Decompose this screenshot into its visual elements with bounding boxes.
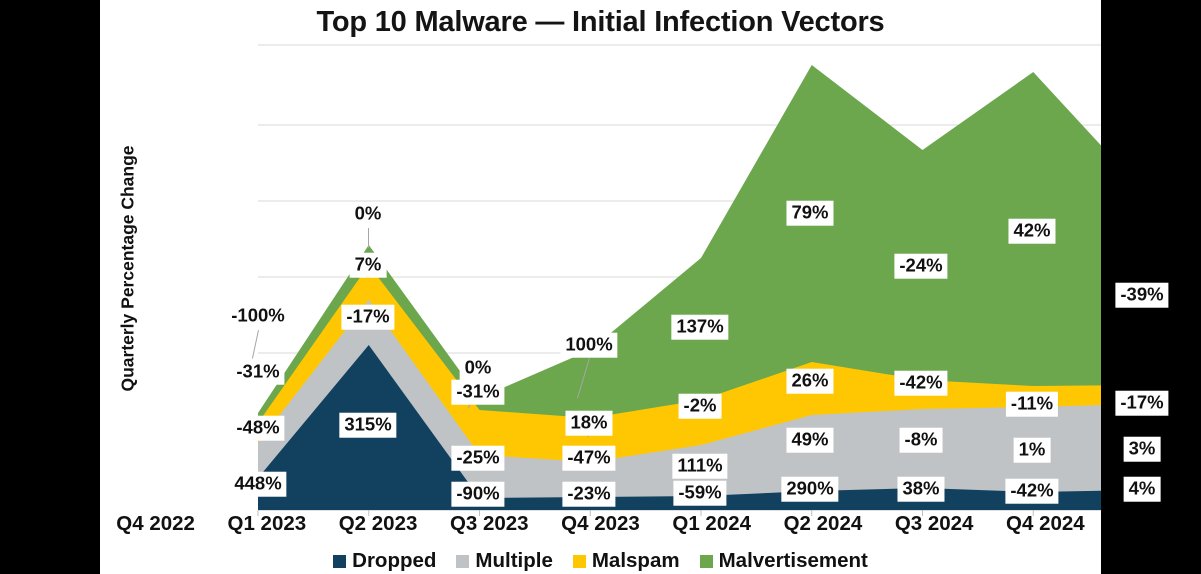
plot-area (100, 0, 1101, 520)
label-leader-line (368, 228, 369, 248)
data-label-malspam: -2% (679, 394, 722, 419)
data-label-malspam: -31% (451, 380, 504, 405)
x-axis-label: Q4 2023 (545, 512, 656, 548)
chart-legend: DroppedMultipleMalspamMalvertisement (100, 548, 1101, 574)
x-axis-label: Q4 2022 (100, 512, 211, 548)
legend-item-dropped[interactable]: Dropped (333, 549, 436, 573)
data-label-malvertisement: 42% (1008, 219, 1055, 244)
data-label-multiple: -47% (562, 446, 615, 471)
data-label-dropped: 290% (781, 477, 838, 502)
x-axis-label: Q3 2024 (879, 512, 990, 548)
legend-label: Multiple (475, 549, 552, 573)
x-axis-label: Q2 2024 (767, 512, 878, 548)
data-label-malvertisement: 0% (460, 356, 497, 381)
legend-swatch-icon (333, 555, 346, 568)
data-label-multiple: 1% (1014, 438, 1051, 463)
data-label-malvertisement: 137% (671, 315, 728, 340)
screenshot-frame: Top 10 Malware — Initial Infection Vecto… (0, 0, 1201, 574)
legend-item-malspam[interactable]: Malspam (573, 549, 680, 573)
x-axis-label: Q1 2024 (656, 512, 767, 548)
x-axis-label: Q4 2024 (990, 512, 1101, 548)
data-label-dropped: 315% (339, 413, 396, 438)
legend-swatch-icon (700, 555, 713, 568)
data-label-malspam: -31% (231, 360, 284, 385)
legend-item-multiple[interactable]: Multiple (456, 549, 552, 573)
data-label-dropped: 38% (897, 477, 944, 502)
legend-swatch-icon (456, 555, 469, 568)
data-label-dropped: -59% (673, 481, 726, 506)
data-label-malspam: -17% (1115, 391, 1168, 416)
data-label-dropped: -90% (451, 482, 504, 507)
data-label-dropped: 448% (229, 472, 286, 497)
legend-label: Malvertisement (719, 549, 868, 573)
data-label-malvertisement: 100% (560, 333, 617, 358)
data-label-malvertisement: -24% (894, 254, 947, 279)
data-label-dropped: 4% (1124, 477, 1161, 502)
data-label-malspam: 7% (350, 253, 387, 278)
data-label-multiple: -25% (451, 446, 504, 471)
data-label-multiple: 49% (786, 428, 833, 453)
data-label-malvertisement: -100% (226, 304, 289, 329)
data-label-multiple: -48% (231, 416, 284, 441)
data-label-malspam: 26% (786, 369, 833, 394)
x-axis-label: Q2 2023 (322, 512, 433, 548)
data-label-malvertisement: -39% (1115, 283, 1168, 308)
data-label-multiple: 3% (1124, 437, 1161, 462)
data-label-multiple: -17% (341, 305, 394, 330)
legend-label: Dropped (352, 549, 436, 573)
x-axis-label: Q3 2023 (434, 512, 545, 548)
chart-canvas: Top 10 Malware — Initial Infection Vecto… (100, 0, 1101, 574)
x-axis: Q4 2022Q1 2023Q2 2023Q3 2023Q4 2023Q1 20… (100, 512, 1101, 548)
data-label-malspam: -42% (894, 371, 947, 396)
data-label-multiple: 111% (672, 454, 727, 479)
data-label-dropped: -23% (562, 482, 615, 507)
data-label-multiple: -8% (900, 428, 943, 453)
area-series-group (258, 65, 1101, 510)
legend-label: Malspam (592, 549, 680, 573)
data-label-malvertisement: 0% (350, 202, 387, 227)
legend-item-malvertisement[interactable]: Malvertisement (700, 549, 868, 573)
data-label-malspam: 18% (565, 411, 612, 436)
data-label-dropped: -42% (1005, 479, 1058, 504)
data-label-malspam: -11% (1006, 392, 1058, 417)
x-axis-label: Q1 2023 (211, 512, 322, 548)
legend-swatch-icon (573, 555, 586, 568)
data-label-malvertisement: 79% (786, 201, 833, 226)
